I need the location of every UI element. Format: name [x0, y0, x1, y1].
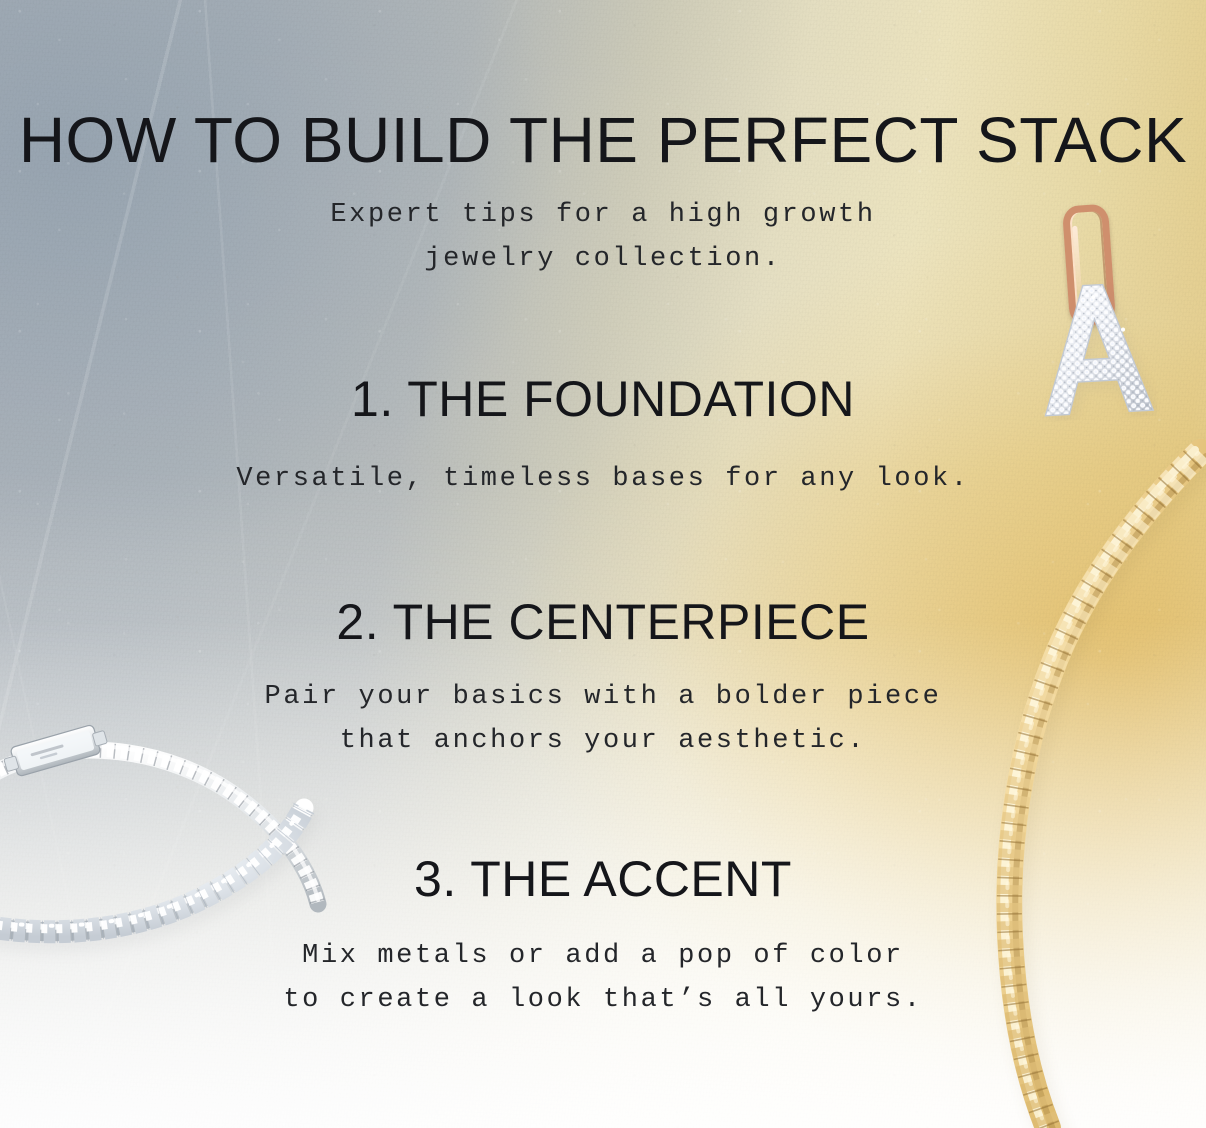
section-body-foundation: Versatile, timeless bases for any look. — [0, 458, 1206, 502]
poster-text-content: HOW TO BUILD THE PERFECT STACK Expert ti… — [0, 0, 1206, 1128]
section-heading-accent: 3. THE ACCENT — [0, 854, 1206, 904]
section-body-centerpiece: Pair your basics with a bolder piece tha… — [0, 676, 1206, 763]
poster-subtitle: Expert tips for a high growth jewelry co… — [0, 194, 1206, 281]
section-body-accent: Mix metals or add a pop of color to crea… — [0, 935, 1206, 1022]
page-title: HOW TO BUILD THE PERFECT STACK — [0, 108, 1206, 172]
poster-canvas: HOW TO BUILD THE PERFECT STACK Expert ti… — [0, 0, 1206, 1128]
section-heading-centerpiece: 2. THE CENTERPIECE — [0, 597, 1206, 647]
section-heading-foundation: 1. THE FOUNDATION — [0, 374, 1206, 424]
